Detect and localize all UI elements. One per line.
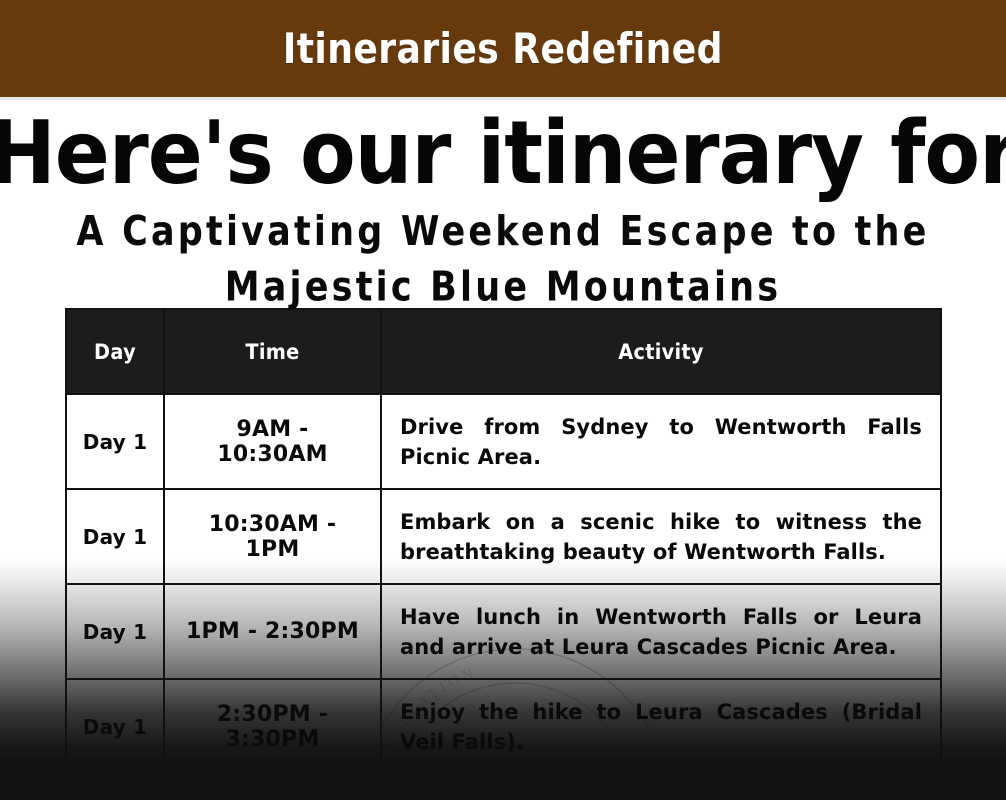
itinerary-table-container: Day Time Activity Day 1 9AM - 10:30AM Dr… [65,308,940,800]
cell-activity: Have lunch in Wentworth Falls or Leura a… [381,584,941,679]
cell-time: 10:30AM - 1PM [164,489,381,584]
cell-activity: Drive from Sydney to Wentworth Falls Pic… [381,394,941,489]
column-header-day: Day [70,309,160,394]
cell-activity: Enjoy the hike to Leura Cascades (Bridal… [381,679,941,774]
cell-time: 9AM - 10:30AM [164,394,381,489]
table-row-partial [66,774,941,800]
itinerary-table: Day Time Activity Day 1 9AM - 10:30AM Dr… [65,308,942,800]
cell-day: Day 1 [66,584,164,679]
table-header: Day Time Activity [66,309,941,394]
cell-day [66,774,164,800]
table-row: Day 1 9AM - 10:30AM Drive from Sydney to… [66,394,941,489]
cell-activity [381,774,941,800]
main-heading: Here's our itinerary for [0,100,1006,208]
banner-title: Itineraries Redefined [283,24,723,73]
cell-day: Day 1 [66,489,164,584]
column-header-activity: Activity [403,309,918,394]
table-row: Day 1 10:30AM - 1PM Embark on a scenic h… [66,489,941,584]
heading-block: Here's our itinerary for A Captivating W… [0,100,1006,299]
itinerary-page: DESTINATION Itineraries Day Time Activit… [0,0,1006,800]
table-body: Day 1 9AM - 10:30AM Drive from Sydney to… [66,394,941,800]
banner-underline [0,97,1006,100]
cell-time [164,774,381,800]
top-banner: Itineraries Redefined [0,0,1006,97]
cell-day: Day 1 [66,394,164,489]
table-header-row: Day Time Activity [66,309,941,394]
cell-activity: Embark on a scenic hike to witness the b… [381,489,941,584]
column-header-time: Time [173,309,373,394]
cell-time: 1PM - 2:30PM [164,584,381,679]
sub-heading: A Captivating Weekend Escape to the Maje… [0,205,1006,316]
cell-day: Day 1 [66,679,164,774]
table-row: Day 1 2:30PM - 3:30PM Enjoy the hike to … [66,679,941,774]
cell-time: 2:30PM - 3:30PM [164,679,381,774]
table-row: Day 1 1PM - 2:30PM Have lunch in Wentwor… [66,584,941,679]
